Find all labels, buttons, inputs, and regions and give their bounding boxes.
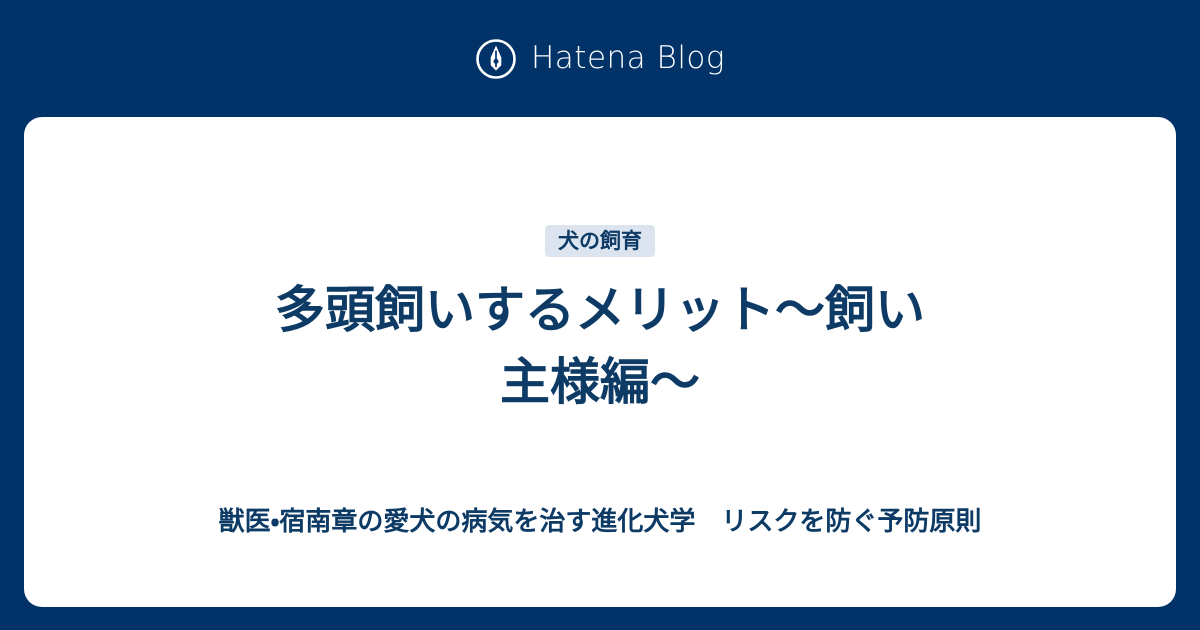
brand-header: Hatena Blog: [0, 0, 1200, 117]
entry-card: 犬の飼育 多頭飼いするメリット〜飼い主様編〜 獣医・宿南章の愛犬の病気を治す進化…: [24, 117, 1176, 607]
hatena-pen-nib-icon: [475, 38, 517, 80]
blog-name: 獣医・宿南章の愛犬の病気を治す進化犬学 リスクを防ぐ予防原則: [24, 502, 1176, 542]
entry-title: 多頭飼いするメリット〜飼い主様編〜: [270, 274, 930, 418]
category-tag[interactable]: 犬の飼育: [545, 225, 655, 257]
entry-title-line-1: 多頭飼いするメリット〜: [275, 281, 825, 339]
ogp-card-root: Hatena Blog 犬の飼育 多頭飼いするメリット〜飼い主様編〜 獣医・宿南…: [0, 0, 1200, 630]
hatena-blog-wordmark: Hatena Blog: [531, 43, 725, 74]
category-tag-row: 犬の飼育: [545, 225, 655, 257]
